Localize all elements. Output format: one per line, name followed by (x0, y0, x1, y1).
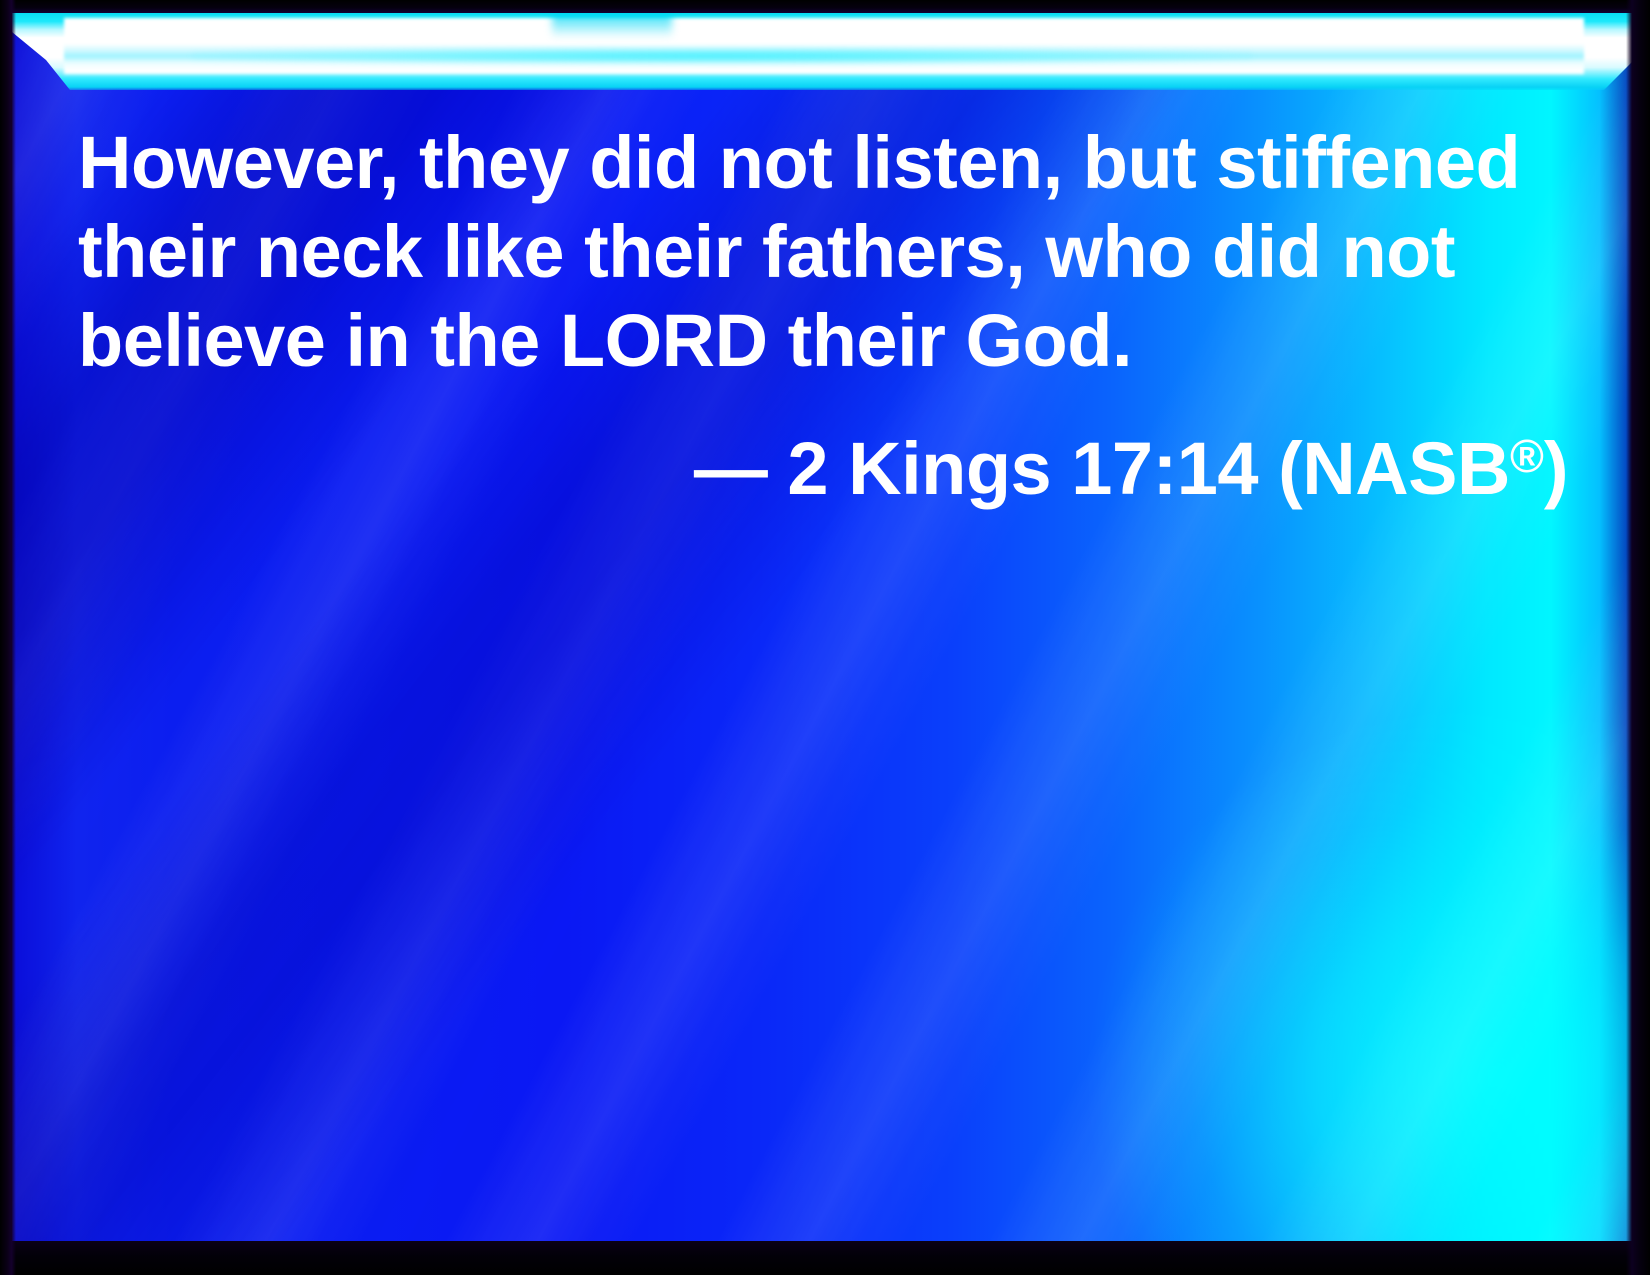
verse-line-1: However, they did not listen, but stiffe… (78, 118, 1578, 207)
verse-text-block: However, they did not listen, but stiffe… (78, 118, 1578, 513)
citation-spacer-2 (1258, 427, 1278, 510)
verse-line-3: believe in the LORD their God. (78, 296, 1578, 385)
verse-slide: However, they did not listen, but stiffe… (0, 0, 1650, 1275)
citation-spacer-1 (767, 427, 787, 510)
citation-em-dash: — (694, 427, 768, 510)
top-glow-white-core (64, 18, 1584, 74)
citation-reference: 2 Kings 17:14 (787, 427, 1258, 510)
citation-close-paren: ) (1544, 427, 1568, 510)
border-top (0, 0, 1650, 13)
verse-line-2: their neck like their fathers, who did n… (78, 207, 1578, 296)
top-glow-cyan-streak (192, 48, 1252, 64)
verse-citation: — 2 Kings 17:14 (NASB®) (78, 412, 1578, 513)
registered-trademark-icon: ® (1510, 430, 1544, 482)
top-glow-cyan-edge (12, 10, 1632, 92)
citation-open-paren: ( (1278, 427, 1302, 510)
top-glow-bar (12, 10, 1632, 100)
border-bottom (0, 1241, 1650, 1275)
top-glow-notch (552, 10, 672, 38)
border-right (1626, 0, 1650, 1275)
background-cyan-glow (900, 560, 1650, 1275)
citation-translation: NASB (1302, 427, 1510, 510)
border-left (0, 0, 16, 1275)
